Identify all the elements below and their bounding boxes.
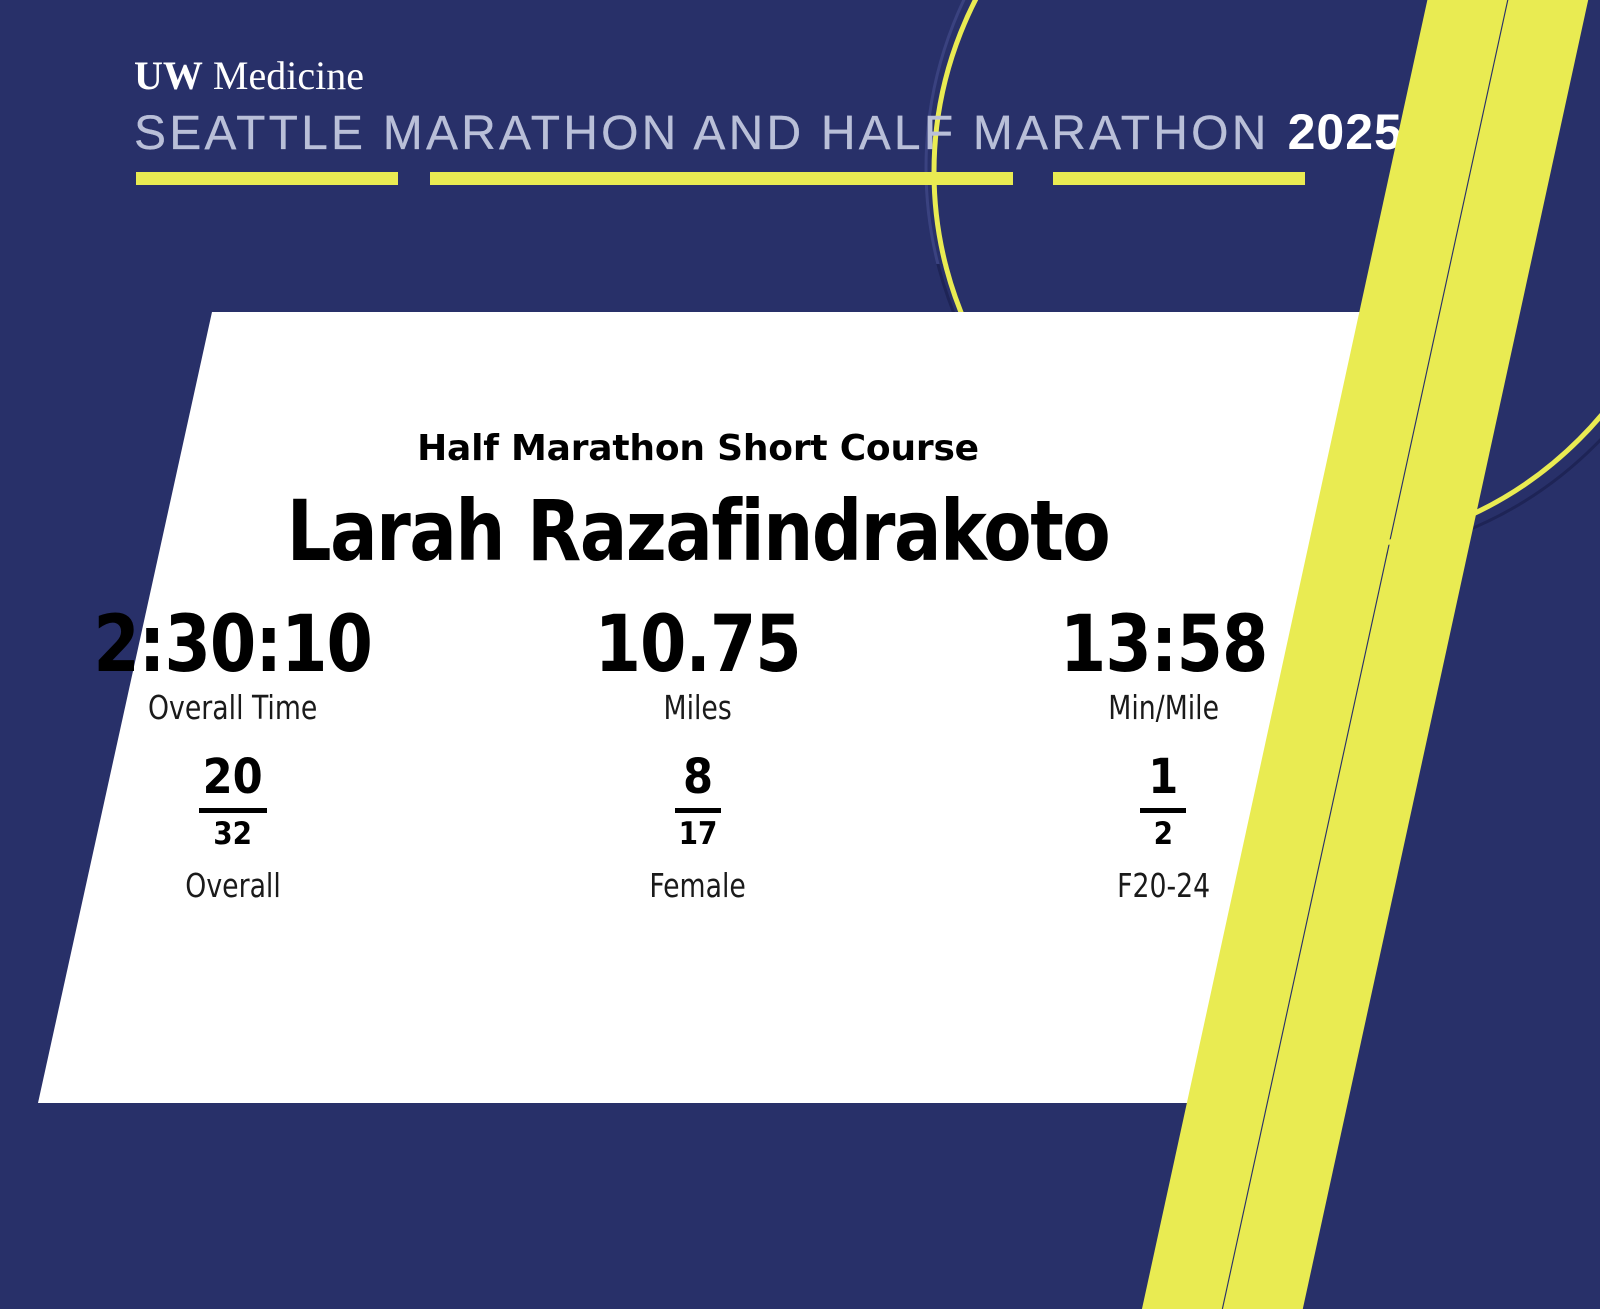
event-name: SEATTLE MARATHON AND HALF MARATHON <box>134 106 1270 162</box>
race-result-card: UW Medicine SEATTLE MARATHON AND HALF MA… <box>0 0 1600 1309</box>
title-rule-1 <box>136 172 398 185</box>
placement-rank: 20 <box>199 751 267 803</box>
brand-block: UW Medicine SEATTLE MARATHON AND HALF MA… <box>134 52 1403 162</box>
placement-fraction: 1 2 <box>1140 751 1186 852</box>
placement-label: Female <box>650 866 746 906</box>
uw-medicine-logo-bold: UW <box>134 53 203 98</box>
uw-medicine-logo-regular: Medicine <box>213 53 364 98</box>
placement-label: Overall <box>185 866 280 906</box>
stat-value: 10.75 <box>477 603 919 687</box>
placement-label: F20-24 <box>1117 866 1210 906</box>
placement-stats-row: 20 32 Overall 8 17 Female 1 2 <box>0 751 1396 906</box>
title-rule-2 <box>430 172 1013 185</box>
placement-total: 17 <box>679 816 718 852</box>
fraction-bar <box>199 808 267 813</box>
stat-label: Miles <box>489 687 908 729</box>
placement-overall: 20 32 Overall <box>0 751 465 906</box>
placement-rank: 1 <box>1144 751 1182 803</box>
placement-rank: 8 <box>679 751 717 803</box>
uw-medicine-logo: UW Medicine <box>134 52 1403 100</box>
event-year: 2025 <box>1288 104 1403 160</box>
stat-label: Overall Time <box>23 687 442 729</box>
event-title-line: SEATTLE MARATHON AND HALF MARATHON 2025 <box>134 104 1403 162</box>
placement-fraction: 8 17 <box>675 751 721 852</box>
stat-value: 2:30:10 <box>12 603 454 687</box>
placement-total: 2 <box>1154 816 1173 852</box>
fraction-bar <box>1140 808 1186 813</box>
placement-fraction: 20 32 <box>199 751 267 852</box>
stat-miles: 10.75 Miles <box>465 603 930 729</box>
title-rule-3 <box>1053 172 1305 185</box>
course-name: Half Marathon Short Course <box>0 428 1396 469</box>
stat-overall-time: 2:30:10 Overall Time <box>0 603 465 729</box>
placement-total: 32 <box>213 816 252 852</box>
runner-name: Larah Razafindrakoto <box>49 485 1347 577</box>
results-content: Half Marathon Short Course Larah Razafin… <box>0 312 1396 1103</box>
placement-female: 8 17 Female <box>465 751 930 906</box>
primary-stats-row: 2:30:10 Overall Time 10.75 Miles 13:58 M… <box>0 603 1396 729</box>
fraction-bar <box>675 808 721 813</box>
